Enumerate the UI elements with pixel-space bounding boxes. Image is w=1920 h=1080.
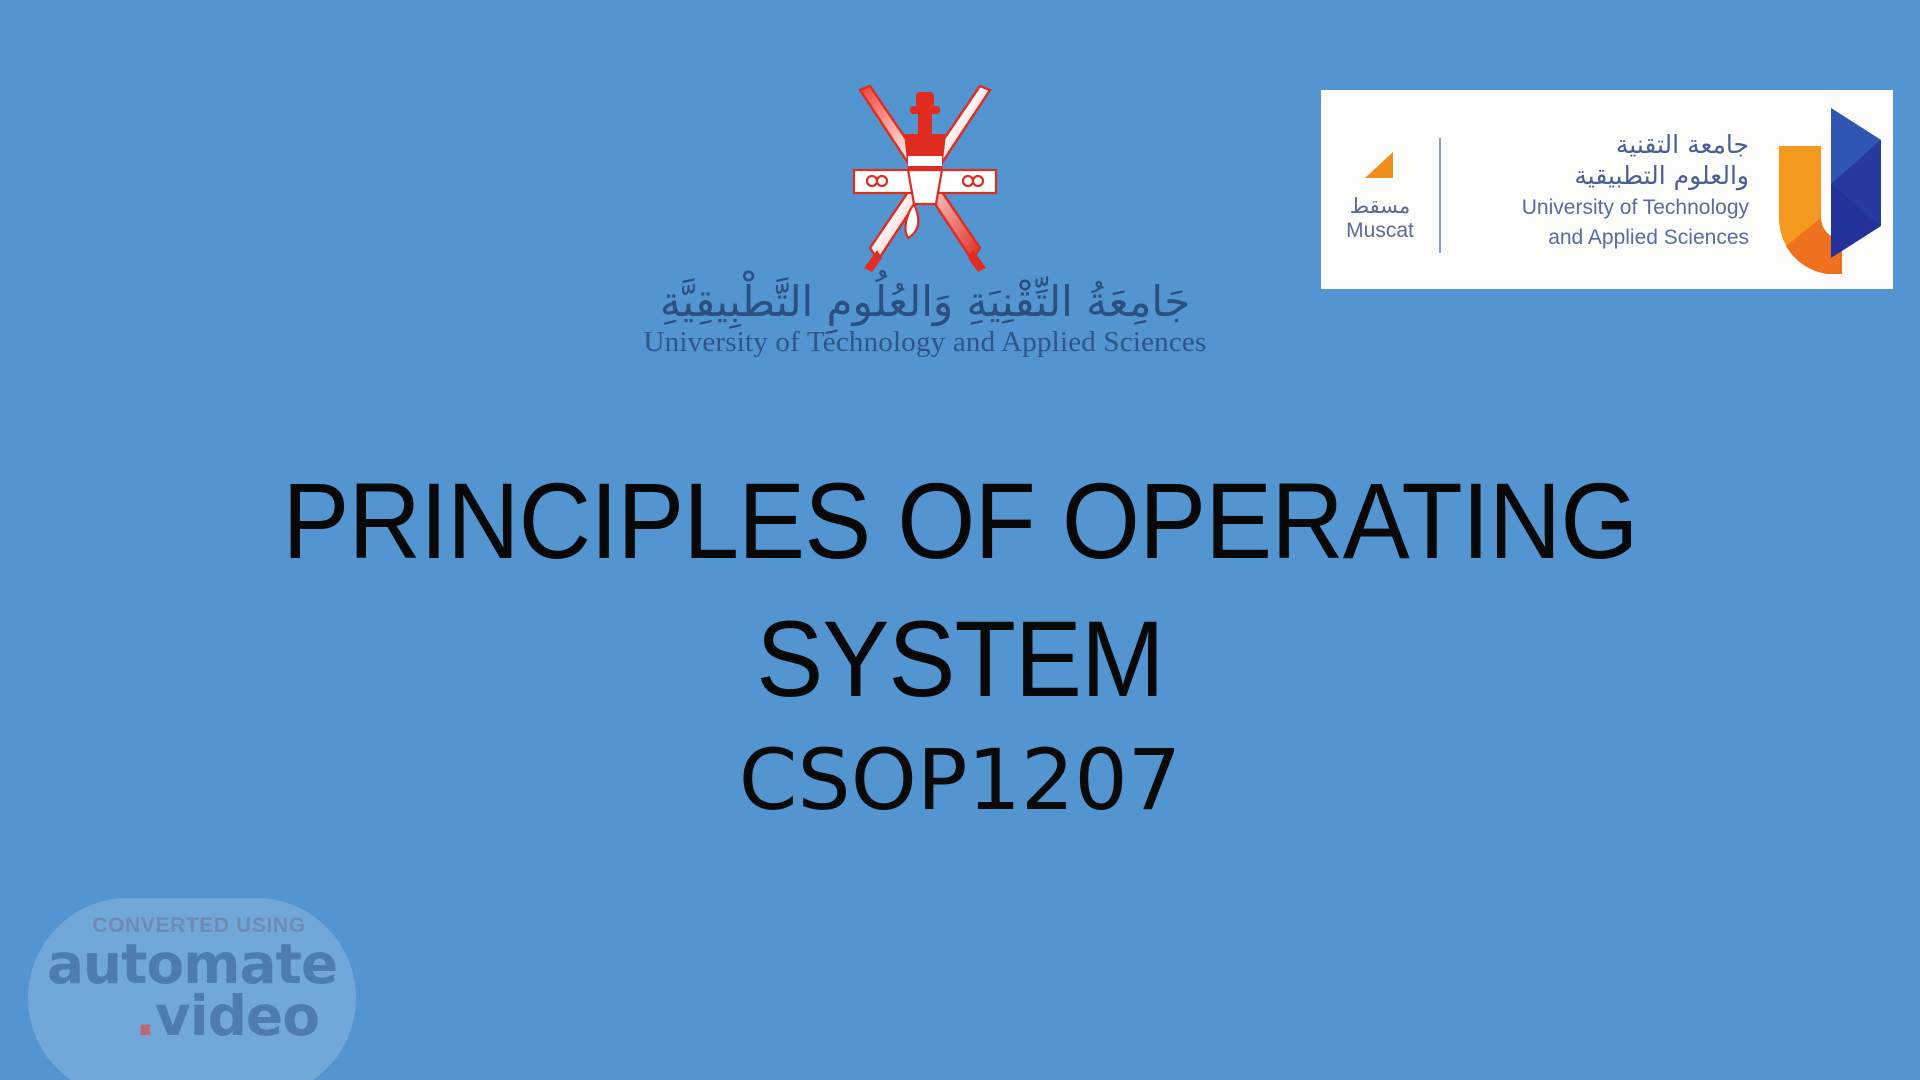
utas-name-block: جامعة التقنية والعلوم التطبيقية Universi…	[1441, 90, 1763, 289]
utas-english-line-1: University of Technology	[1522, 195, 1749, 221]
page-title-line-1: PRINCIPLES OF OPERATING	[67, 452, 1853, 590]
utas-arabic-line-1: جامعة التقنية	[1616, 129, 1749, 160]
crest-english-name: University of Technology and Applied Sci…	[644, 328, 1207, 357]
utas-campus-arabic: مسقط	[1350, 195, 1411, 218]
presentation-title-slide: جَامِعَةُ التِّقْنِيَةِ وَالعُلُومِ التَ…	[0, 0, 1920, 1080]
utas-u-mark-icon	[1763, 90, 1893, 289]
title-block: PRINCIPLES OF OPERATING SYSTEM CSOP1207	[0, 452, 1920, 825]
oman-national-emblem-khanjar-icon	[830, 78, 1020, 278]
muscat-orange-flag-icon	[1363, 150, 1397, 195]
utas-logo-box: مسقط Muscat جامعة التقنية والعلوم التطبي…	[1321, 90, 1893, 289]
watermark-dot: .	[135, 984, 155, 1048]
utas-campus-block: مسقط Muscat	[1321, 90, 1439, 289]
crest-arabic-name: جَامِعَةُ التِّقْنِيَةِ وَالعُلُومِ التَ…	[660, 280, 1190, 324]
automate-video-watermark: CONVERTED USING automate .video	[28, 898, 356, 1080]
utas-campus-english: Muscat	[1346, 218, 1414, 243]
watermark-domain: .video	[98, 988, 356, 1044]
course-code: CSOP1207	[0, 736, 1920, 824]
university-crest: جَامِعَةُ التِّقْنِيَةِ وَالعُلُومِ التَ…	[600, 78, 1250, 398]
watermark-domain-text: video	[155, 984, 319, 1048]
page-title-line-2: SYSTEM	[67, 590, 1853, 728]
utas-english-line-2: and Applied Sciences	[1548, 225, 1749, 251]
utas-arabic-line-2: والعلوم التطبيقية	[1574, 160, 1749, 191]
